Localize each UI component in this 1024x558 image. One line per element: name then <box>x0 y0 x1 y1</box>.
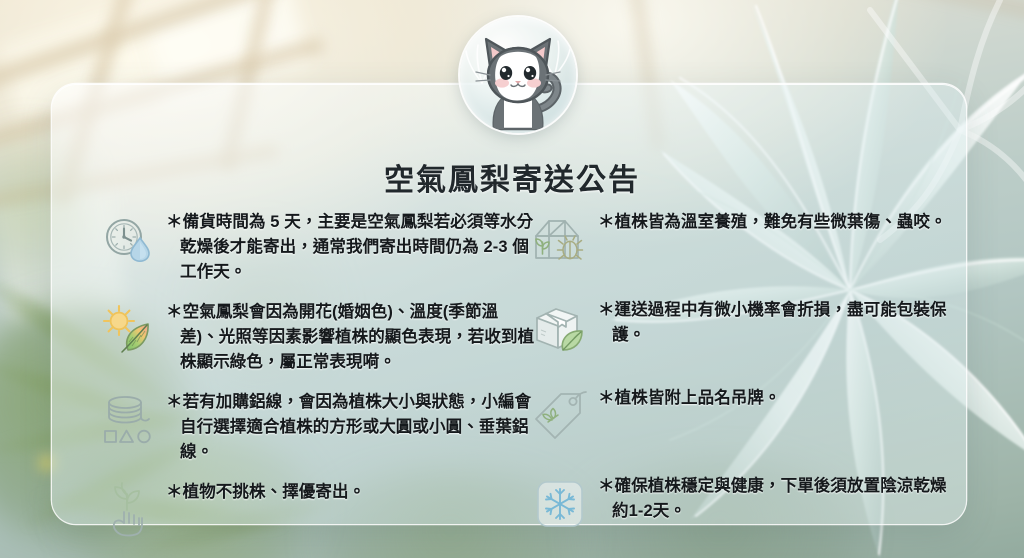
list-item: ＊備貨時間為 5 天，主要是空氣鳳梨若必須等水分乾燥後才能寄出，通常我們寄出時間… <box>96 208 536 285</box>
cat-mascot-badge <box>460 17 576 133</box>
list-item: ＊確保植株穩定與健康，下單後須放置陰涼乾燥約1-2天。 <box>528 472 958 536</box>
wire-coil-shapes-icon <box>96 388 160 452</box>
package-leaf-icon <box>528 296 592 360</box>
list-item-text: ＊植株皆附上品名吊牌。 <box>598 384 958 411</box>
list-item-text: ＊若有加購鋁線，會因為植株大小與狀態，小編會自行選擇適合植株的方形或大圓或小圓、… <box>166 388 536 465</box>
snowflake-icon <box>528 472 592 536</box>
greenhouse-bug-icon <box>528 208 592 272</box>
list-item: ＊運送過程中有微小機率會折損，盡可能包裝保護。 <box>528 296 958 360</box>
list-item: ＊植株皆附上品名吊牌。 <box>528 384 958 448</box>
announcement-graphic: 空氣鳳梨寄送公告 <box>0 0 1024 558</box>
clock-waterdrop-icon <box>96 208 160 272</box>
list-item: ＊植物不挑株、擇優寄出。 <box>96 478 536 542</box>
price-tag-leaf-icon <box>528 384 592 448</box>
list-item: ＊植株皆為溫室養殖，難免有些微葉傷、蟲咬。 <box>528 208 958 272</box>
sun-leaf-icon <box>96 298 160 362</box>
hand-sprout-icon <box>96 478 160 542</box>
list-item: ＊空氣鳳梨會因為開花(婚姻色)、溫度(季節溫差)、光照等因素影響植株的顯色表現，… <box>96 298 536 375</box>
list-item-text: ＊運送過程中有微小機率會折損，盡可能包裝保護。 <box>598 296 958 348</box>
list-item-text: ＊空氣鳳梨會因為開花(婚姻色)、溫度(季節溫差)、光照等因素影響植株的顯色表現，… <box>166 298 536 375</box>
list-item: ＊若有加購鋁線，會因為植株大小與狀態，小編會自行選擇適合植株的方形或大圓或小圓、… <box>96 388 536 465</box>
page-title: 空氣鳳梨寄送公告 <box>0 155 1024 199</box>
list-item-text: ＊備貨時間為 5 天，主要是空氣鳳梨若必須等水分乾燥後才能寄出，通常我們寄出時間… <box>166 208 536 285</box>
list-item-text: ＊植株皆為溫室養殖，難免有些微葉傷、蟲咬。 <box>598 208 958 235</box>
list-item-text: ＊確保植株穩定與健康，下單後須放置陰涼乾燥約1-2天。 <box>598 472 958 524</box>
left-notice-column: ＊備貨時間為 5 天，主要是空氣鳳梨若必須等水分乾燥後才能寄出，通常我們寄出時間… <box>96 208 536 555</box>
right-notice-column: ＊植株皆為溫室養殖，難免有些微葉傷、蟲咬。 <box>528 208 958 558</box>
list-item-text: ＊植物不挑株、擇優寄出。 <box>166 478 536 505</box>
